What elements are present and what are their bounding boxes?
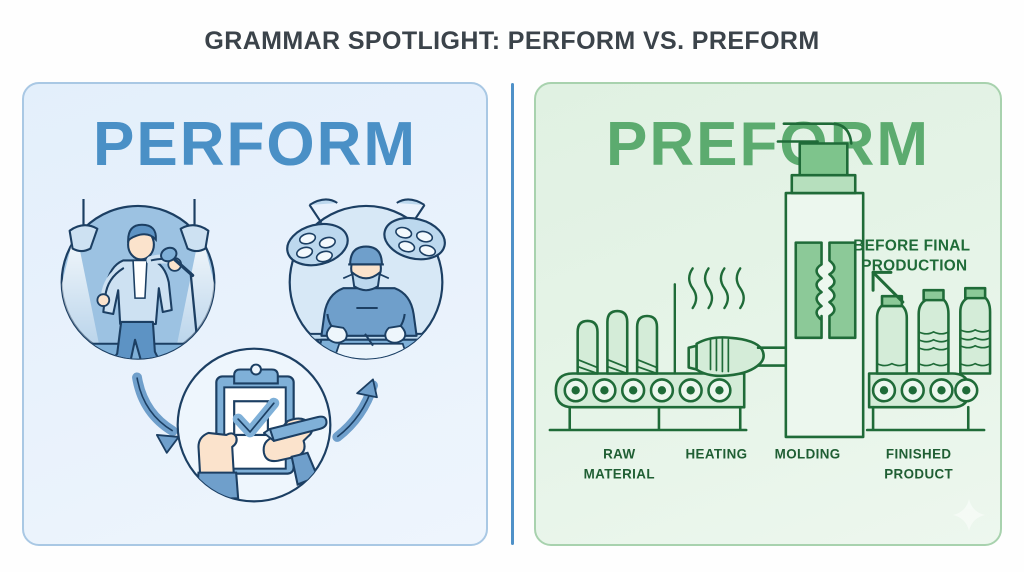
stage-label-raw-line1: RAW xyxy=(603,447,635,462)
surgeon-operating-circle xyxy=(283,199,449,361)
singer-on-stage-circle xyxy=(44,199,232,373)
perform-illustration-group xyxy=(24,84,486,544)
perform-panel: PERFORM xyxy=(22,82,488,546)
molding-machine xyxy=(778,124,863,437)
page-title: GRAMMAR SPOTLIGHT: PERFORM VS. PREFORM xyxy=(0,27,1024,56)
annotation-line-1: BEFORE FINAL xyxy=(853,238,970,255)
stage-label-molding: MOLDING xyxy=(775,447,841,462)
heat-waves xyxy=(689,268,744,308)
infographic-canvas: GRAMMAR SPOTLIGHT: PERFORM VS. PREFORM P… xyxy=(0,0,1024,572)
forming-bottle xyxy=(689,337,786,375)
stage-label-finished-line2: PRODUCT xyxy=(884,467,953,482)
conveyor-left xyxy=(550,373,746,430)
clipboard-checkmark-circle xyxy=(178,349,331,502)
panel-divider xyxy=(511,83,514,545)
arrow-up-right xyxy=(337,379,377,437)
arrow-down-left xyxy=(137,377,179,452)
finished-bottles xyxy=(877,288,990,373)
preform-illustration-group: BEFORE FINAL PRODUCTION RAW MATERIAL HEA… xyxy=(536,84,1000,544)
stage-label-raw-line2: MATERIAL xyxy=(584,467,655,482)
preform-pieces xyxy=(578,311,657,373)
annotation-line-2: PRODUCTION xyxy=(861,257,967,274)
conveyor-right xyxy=(867,373,984,430)
sparkle-watermark xyxy=(952,498,986,532)
stage-label-heating: HEATING xyxy=(685,447,747,462)
preform-panel: PREFORM xyxy=(534,82,1002,546)
stage-label-finished-line1: FINISHED xyxy=(886,447,952,462)
